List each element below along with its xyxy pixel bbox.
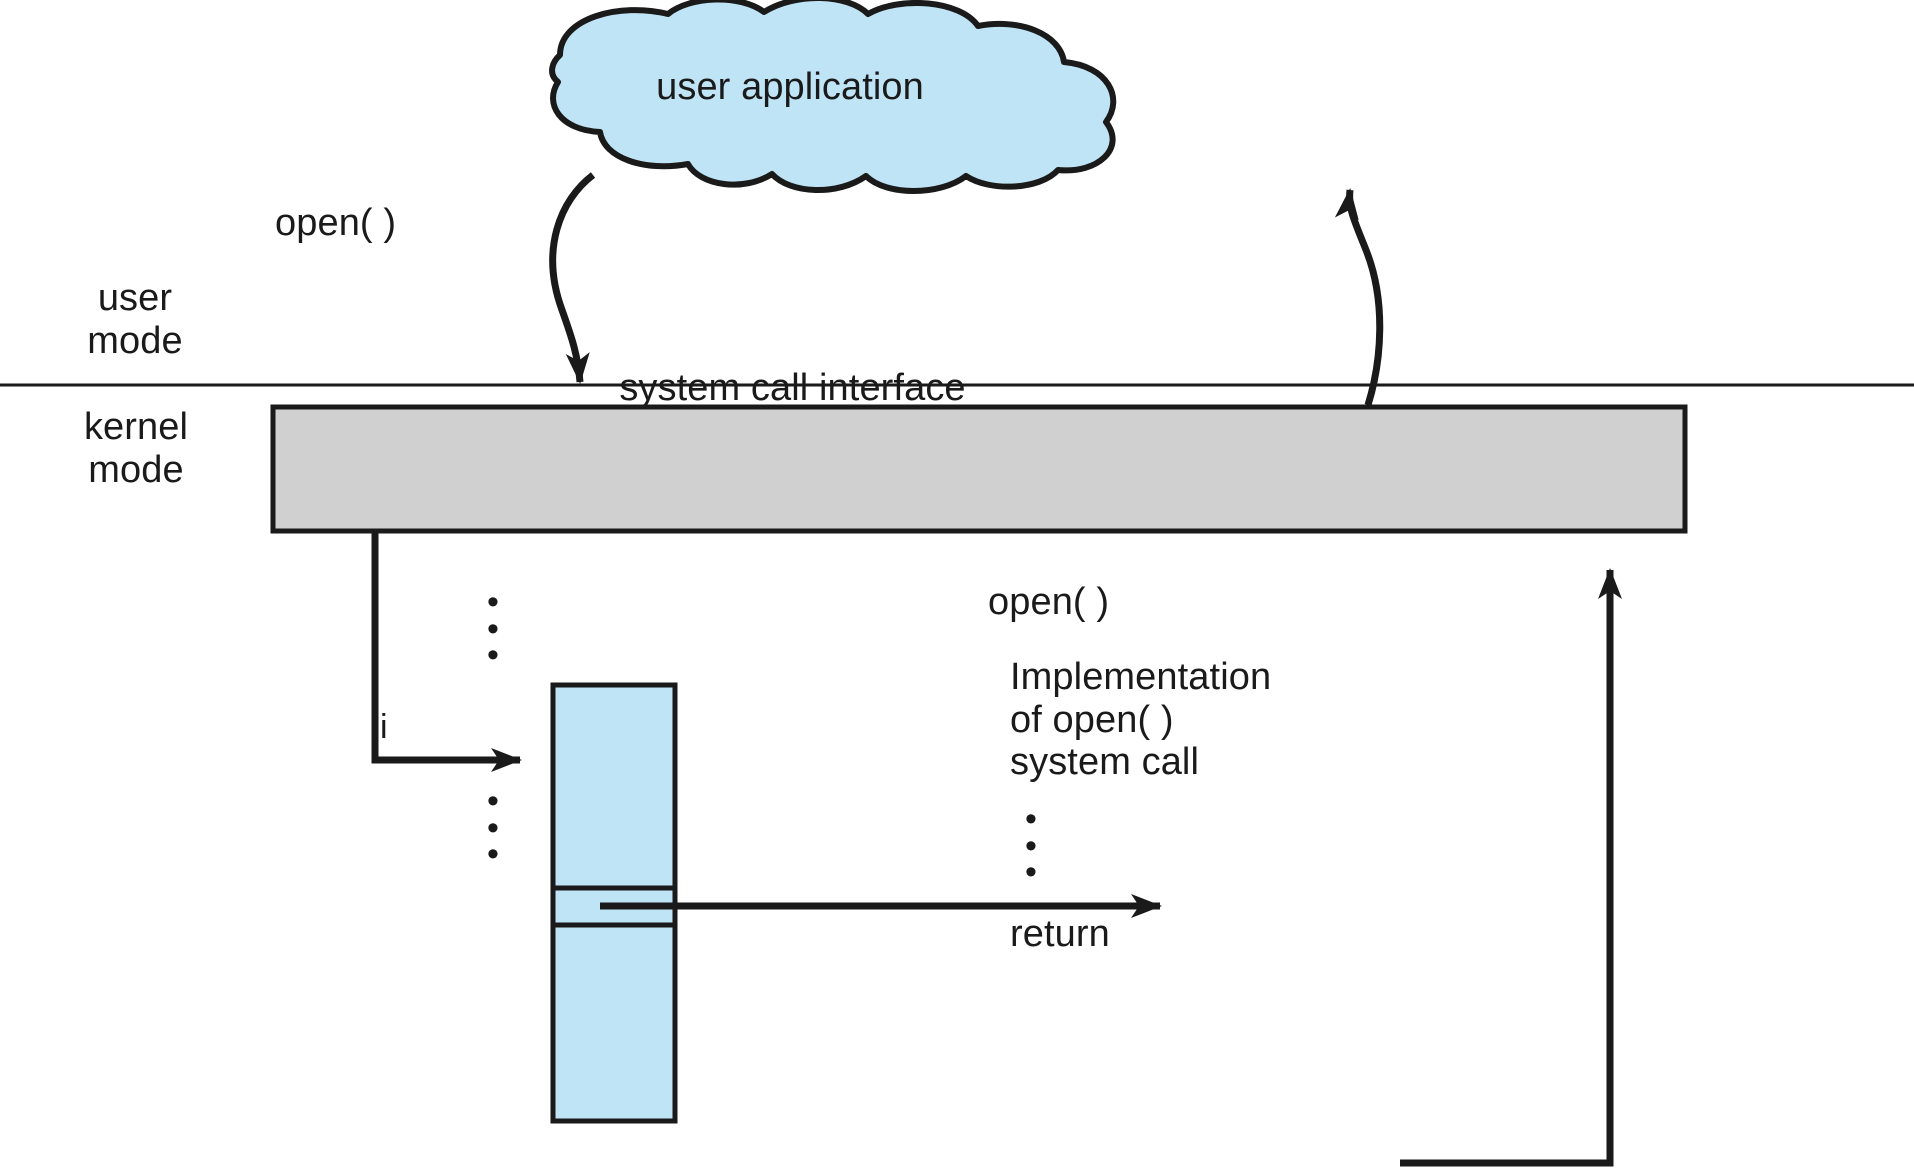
open-call-label: open( ) xyxy=(275,202,396,245)
implementation-return-arrow xyxy=(1400,570,1610,1163)
return-label: return xyxy=(1010,913,1110,956)
system-call-interface-label: system call interface xyxy=(225,367,1360,410)
system-call-interface-bar xyxy=(273,407,1685,531)
diagram-canvas: user application open( ) user mode kerne… xyxy=(0,0,1914,1172)
table-ellipsis-lower: • • • xyxy=(487,788,499,868)
implementation-ellipsis: • • • xyxy=(1025,806,1037,886)
table-ellipsis-upper: • • • xyxy=(487,589,499,669)
table-index-label: i xyxy=(380,708,388,746)
kernel-mode-label: kernel mode xyxy=(52,406,220,491)
implementation-heading: open( ) xyxy=(988,581,1109,624)
user-mode-label: user mode xyxy=(60,277,210,362)
diagram-vector-layer xyxy=(0,0,1914,1172)
open-call-down-arrow xyxy=(553,175,593,382)
user-application-label: user application xyxy=(560,66,1020,109)
implementation-body: Implementation of open( ) system call xyxy=(1010,656,1271,784)
